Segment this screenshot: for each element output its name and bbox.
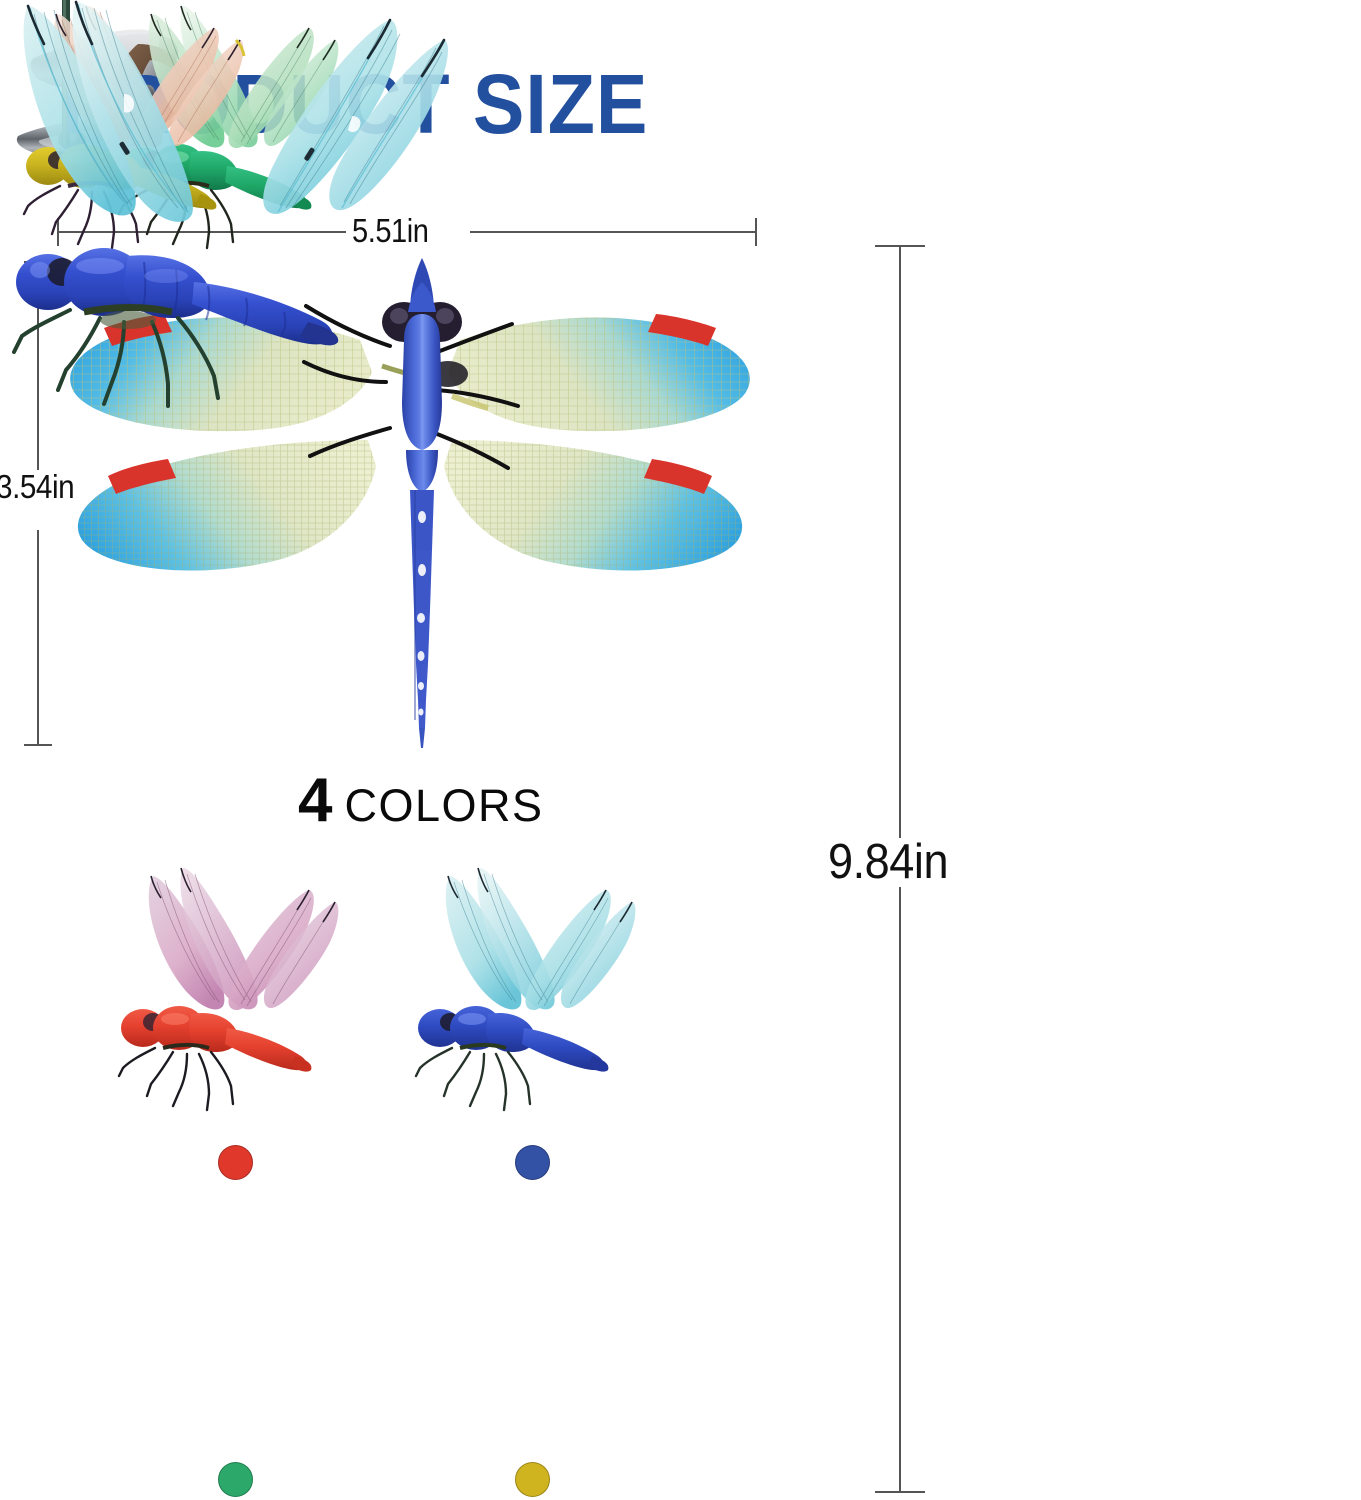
width-tick-right xyxy=(755,218,757,246)
stake-tick-bottom xyxy=(875,1491,925,1493)
swatch-yellow[interactable] xyxy=(515,1462,550,1497)
width-dimension-line-right xyxy=(470,231,756,233)
wing-lower-left xyxy=(78,440,376,571)
swatch-green[interactable] xyxy=(218,1462,253,1497)
variant-image-red[interactable] xyxy=(95,862,385,1132)
colors-heading: 4COLORS xyxy=(298,770,544,832)
legs xyxy=(416,1048,530,1110)
body xyxy=(121,1006,311,1072)
height-tick-bottom xyxy=(24,744,52,746)
stake-dimension-label: 9.84in xyxy=(828,838,948,887)
wings xyxy=(149,868,339,1010)
wings xyxy=(446,868,636,1010)
legs xyxy=(119,1048,233,1110)
colors-word: COLORS xyxy=(344,780,543,831)
stake-product-image xyxy=(0,0,456,435)
stake-tick-top xyxy=(875,245,925,247)
swatch-blue[interactable] xyxy=(515,1145,550,1180)
colors-count: 4 xyxy=(298,766,332,835)
swatch-red[interactable] xyxy=(218,1145,253,1180)
variant-image-blue[interactable] xyxy=(392,862,682,1132)
wings xyxy=(24,2,448,222)
height-dimension-line-bottom xyxy=(37,530,39,746)
infographic-canvas: PRODUCT SIZE 5.51in 3.54in 9.84in xyxy=(0,0,1361,1500)
body xyxy=(418,1006,608,1072)
body xyxy=(16,248,338,345)
